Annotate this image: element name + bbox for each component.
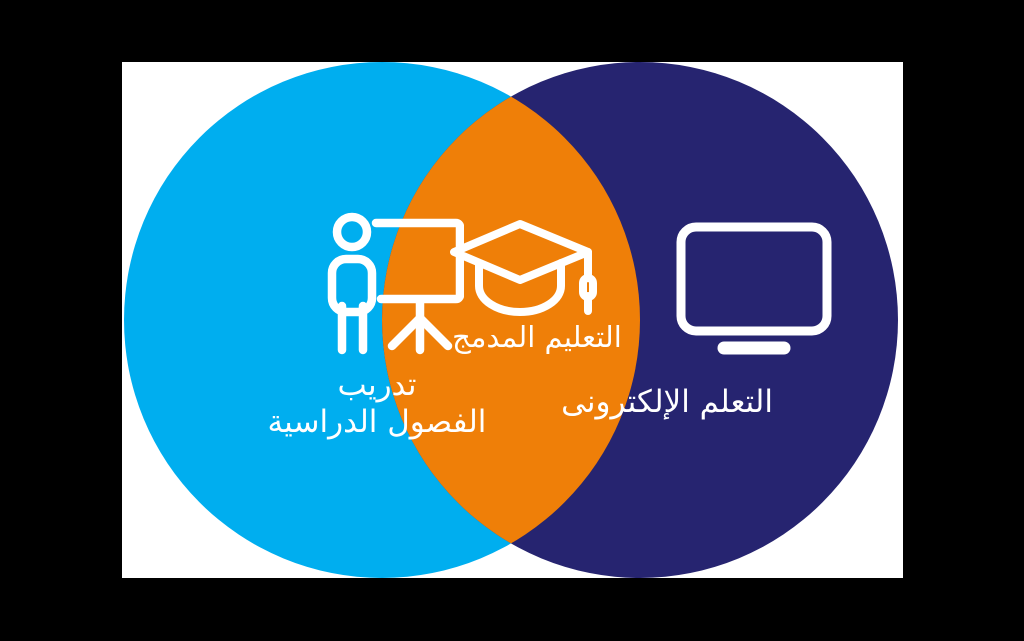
venn-diagram-svg	[122, 62, 903, 578]
figure-stage: تدريب الفصول الدراسية التعليم المدمج الت…	[0, 0, 1024, 641]
diagram-canvas: تدريب الفصول الدراسية التعليم المدمج الت…	[122, 62, 903, 578]
